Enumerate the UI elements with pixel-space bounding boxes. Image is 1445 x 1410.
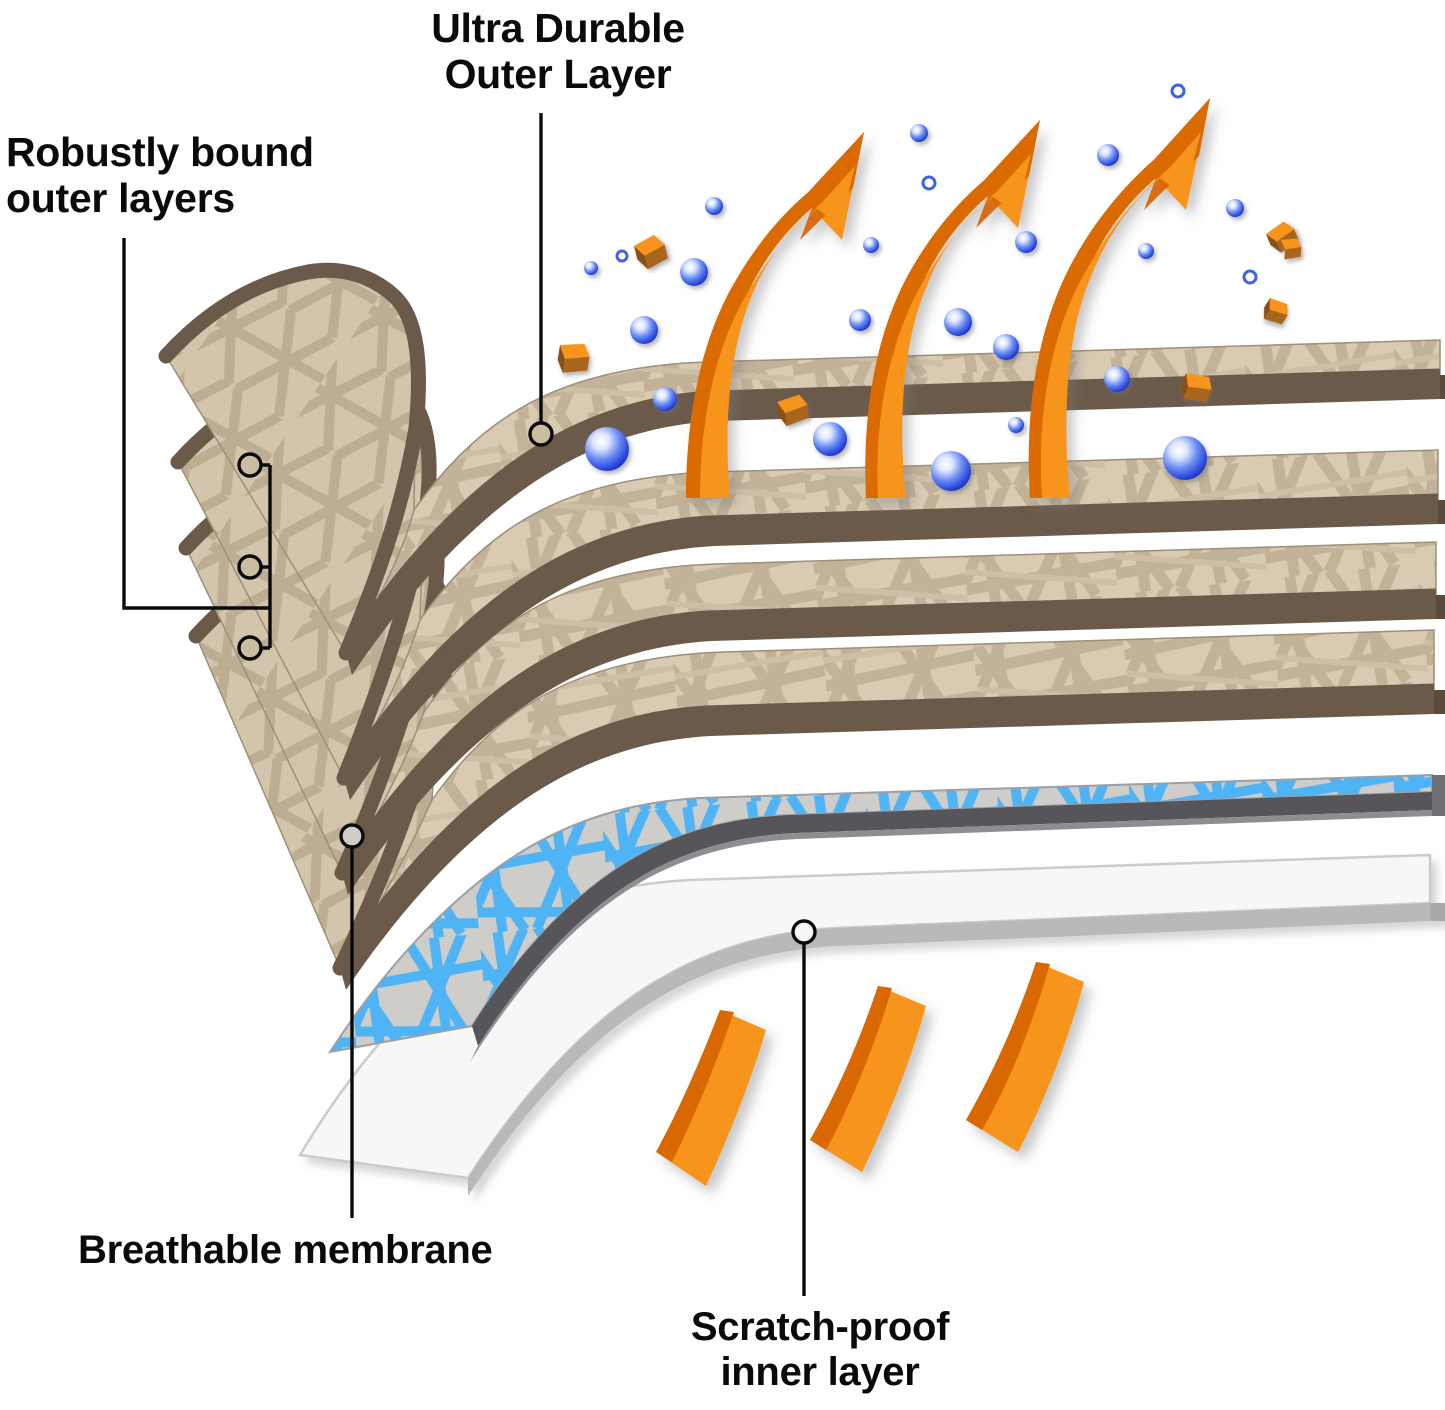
label-breathable-membrane: Breathable membrane — [78, 1228, 678, 1273]
callout-scratch-inner — [793, 921, 815, 1296]
diagram-canvas: Ultra Durable Outer Layer Robustly bound… — [0, 0, 1445, 1410]
label-ultra-durable-outer-layer: Ultra Durable Outer Layer — [388, 6, 728, 98]
label-robustly-bound-outer-layers: Robustly bound outer layers — [6, 130, 406, 222]
airflow-arrows-down — [656, 962, 1084, 1186]
vapour-arrows-up — [686, 98, 1210, 498]
label-scratch-proof-inner-layer: Scratch-proof inner layer — [630, 1305, 1010, 1395]
